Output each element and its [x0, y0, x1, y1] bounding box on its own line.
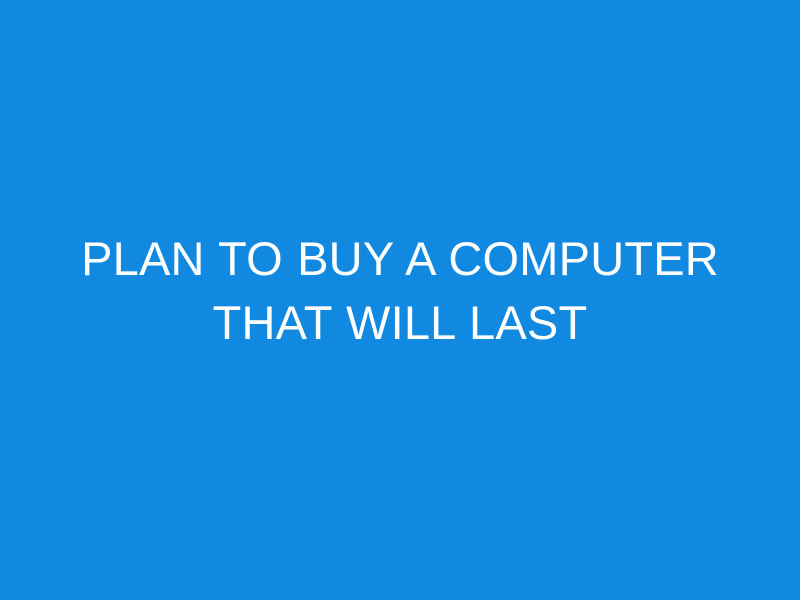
page-title: PLAN TO BUY A COMPUTER THAT WILL LAST [60, 227, 740, 355]
hero-title-block: PLAN TO BUY A COMPUTER THAT WILL LAST [50, 227, 750, 355]
hero-banner: PLAN TO BUY A COMPUTER THAT WILL LAST [0, 0, 800, 600]
